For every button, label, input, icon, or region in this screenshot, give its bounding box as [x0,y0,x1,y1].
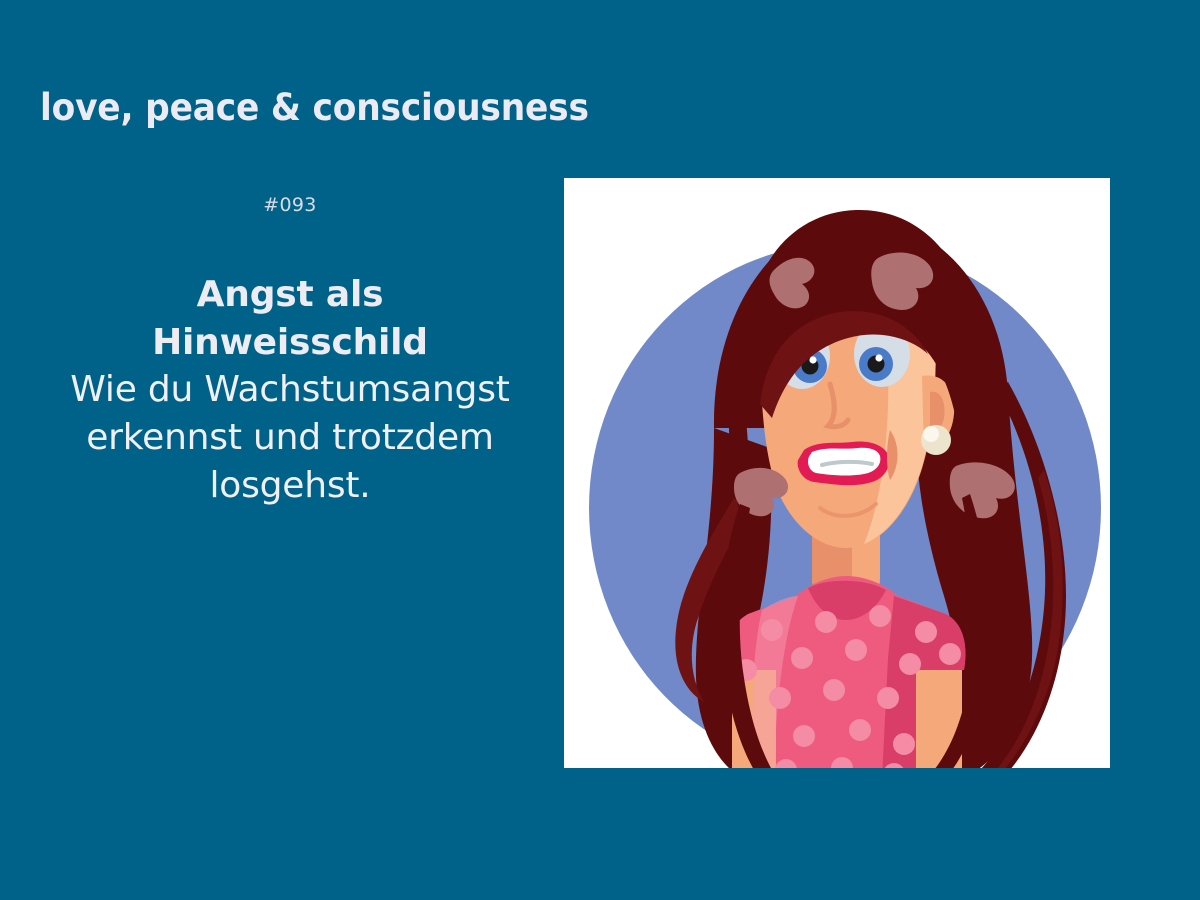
episode-headline: Angst als Hinweisschild [56,271,524,366]
brand-title: love, peace & consciousness [40,86,589,129]
slide-canvas: love, peace & consciousness #093 Angst a… [0,0,1200,900]
worried-woman-illustration [564,178,1110,768]
mouth [798,442,890,486]
episode-subline: Wie du Wachstumsangst erkennst und trotz… [56,366,524,510]
pearl-earring-highlight [923,426,939,442]
artwork-card [564,178,1110,768]
episode-text-column: #093 Angst als Hinweisschild Wie du Wach… [56,196,524,510]
episode-number-label: #093 [56,196,524,215]
